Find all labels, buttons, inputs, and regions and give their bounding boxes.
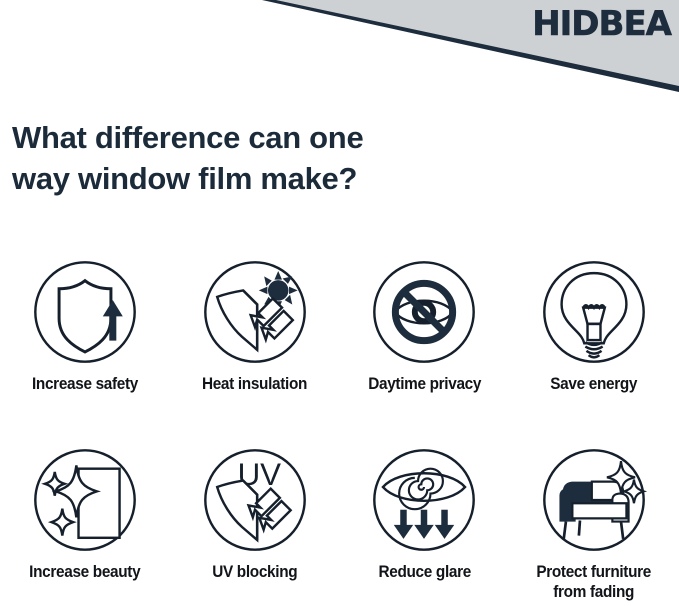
header-banner: HIDBEA — [0, 0, 679, 92]
feature-item: Save energy — [509, 258, 679, 394]
feature-label: Increase beauty — [29, 562, 140, 582]
feature-item: UV UV blocking — [170, 446, 340, 602]
feature-item: Heat insulation — [170, 258, 340, 394]
feature-label: Heat insulation — [202, 374, 307, 394]
feature-label: Protect furniture from fading — [537, 562, 652, 602]
feature-label: Reduce glare — [378, 562, 470, 582]
light-bulb-icon — [540, 258, 648, 366]
sun-deflect-icon — [201, 258, 309, 366]
shield-up-arrow-icon — [31, 258, 139, 366]
page-title: What difference can one way window film … — [12, 117, 532, 199]
sparkle-window-icon — [31, 446, 139, 554]
feature-label: Increase safety — [32, 374, 138, 394]
feature-item: Reduce glare — [340, 446, 510, 602]
feature-item: Daytime privacy — [340, 258, 510, 394]
feature-item: Protect furniture from fading — [509, 446, 679, 602]
eye-spiral-arrows-icon — [370, 446, 478, 554]
feature-label: UV blocking — [212, 562, 297, 582]
feature-label: Save energy — [551, 374, 638, 394]
headline-line-2: way window film make? — [12, 158, 532, 199]
headline-line-1: What difference can one — [12, 117, 532, 158]
armchair-sparkle-icon — [540, 446, 648, 554]
brand-logo: HIDBEA — [532, 7, 671, 41]
uv-deflect-icon: UV — [201, 446, 309, 554]
feature-item: Increase beauty — [0, 446, 170, 602]
eye-no-entry-icon — [370, 258, 478, 366]
feature-grid: Increase safety — [0, 258, 679, 602]
feature-item: Increase safety — [0, 258, 170, 394]
feature-label: Daytime privacy — [368, 374, 481, 394]
